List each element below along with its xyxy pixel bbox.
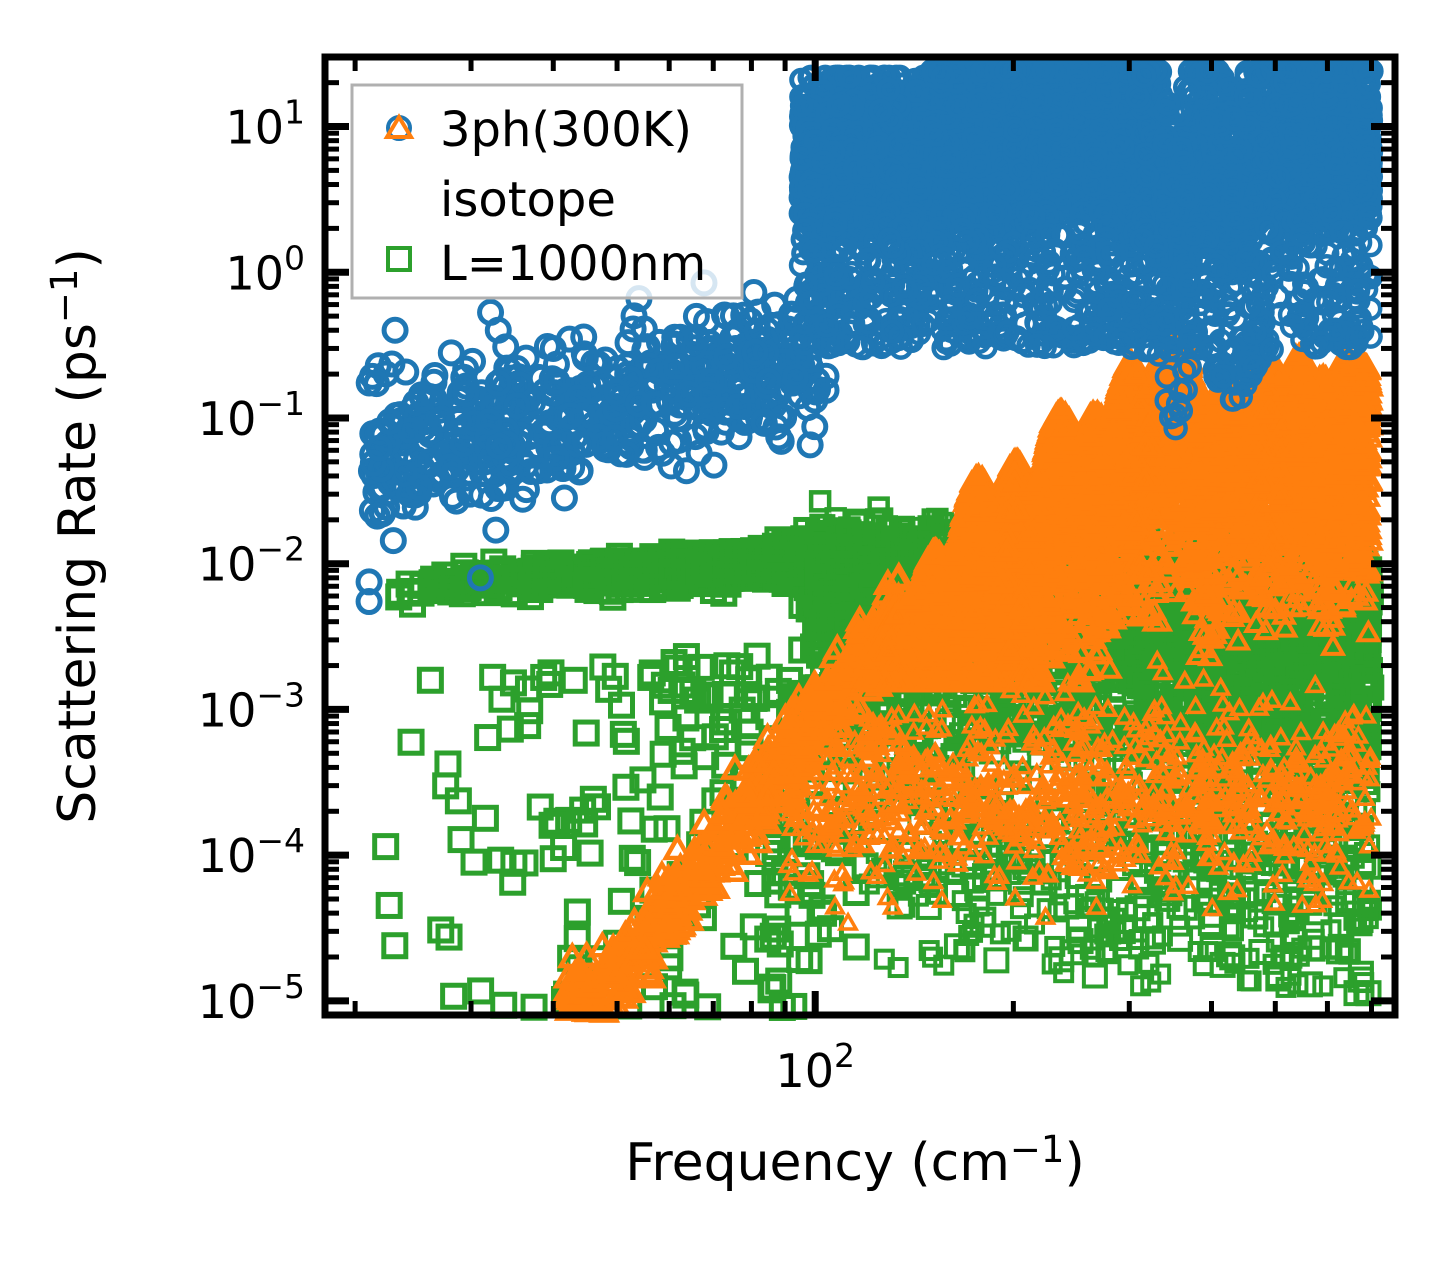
scatter-plot: 10110010−110−210−310−410−5 102 Frequency…: [0, 0, 1455, 1265]
figure-canvas: 10110010−110−210−310−410−5 102 Frequency…: [0, 0, 1455, 1265]
